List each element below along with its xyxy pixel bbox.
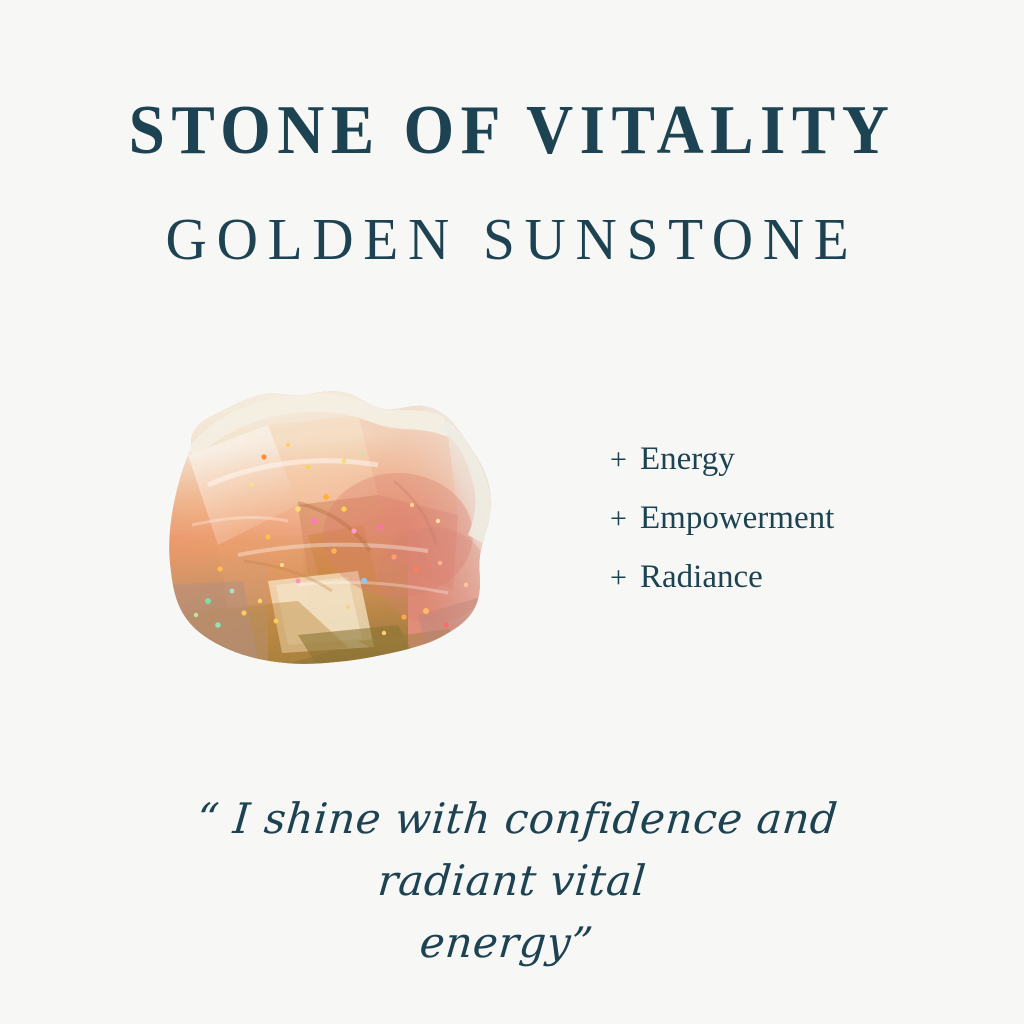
benefit-label: Empowerment <box>640 500 834 536</box>
benefit-item: +Radiance <box>610 548 970 607</box>
crystal-image <box>148 385 512 677</box>
quote-line-1: “ I shine with confidence and radiant vi… <box>109 788 920 912</box>
page-subtitle: GOLDEN SUNSTONE <box>15 166 1008 269</box>
benefits-list: +Energy +Empowerment +Radiance <box>610 430 970 607</box>
plus-icon: + <box>610 431 640 489</box>
heading-block: STONE OF VITALITY GOLDEN SUNSTONE <box>0 96 1024 269</box>
benefit-item: +Empowerment <box>610 489 970 548</box>
plus-icon: + <box>610 490 640 548</box>
stone-body <box>148 385 512 677</box>
benefit-label: Energy <box>640 441 735 477</box>
benefit-label: Radiance <box>640 559 763 595</box>
benefit-item: +Energy <box>610 430 970 489</box>
affirmation-quote: “ I shine with confidence and radiant vi… <box>104 788 920 974</box>
sunstone-illustration <box>148 385 512 677</box>
affirmation-poster: STONE OF VITALITY GOLDEN SUNSTONE <box>0 0 1024 1024</box>
plus-icon: + <box>610 549 640 607</box>
quote-line-2: energy” <box>104 912 909 974</box>
page-title: STONE OF VITALITY <box>36 96 988 166</box>
